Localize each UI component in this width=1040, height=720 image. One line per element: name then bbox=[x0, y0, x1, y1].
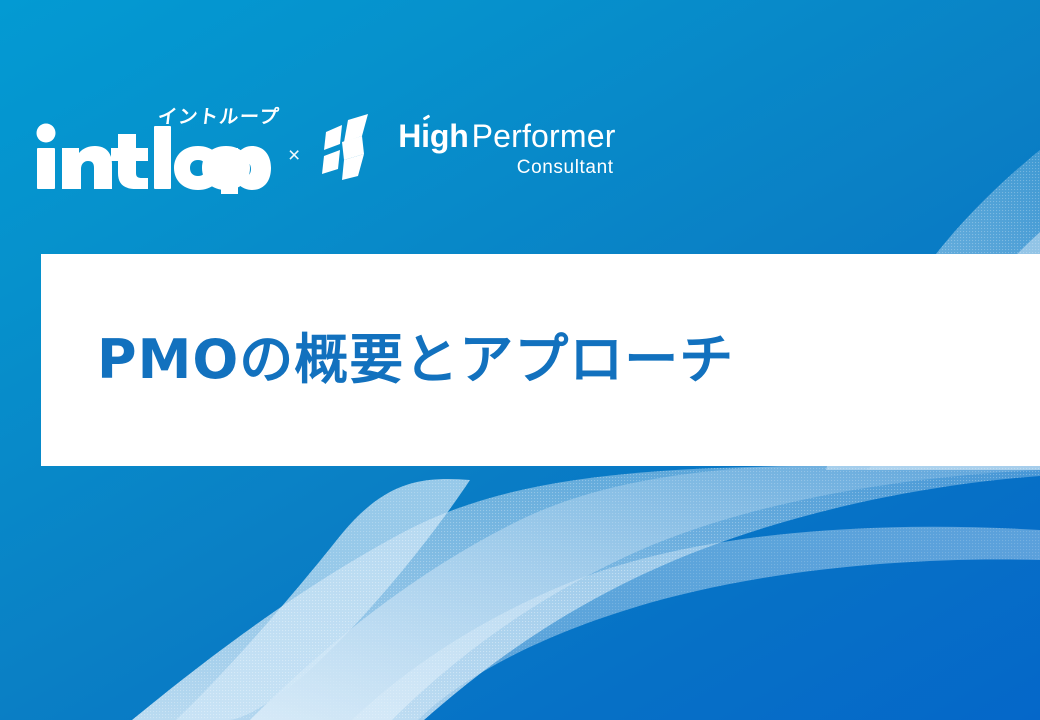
separator-x: × bbox=[288, 145, 300, 166]
wave-bottom-main bbox=[132, 464, 1040, 720]
consultant-word: Consultant bbox=[398, 157, 615, 179]
logo-lockup: イントループ bbox=[32, 96, 616, 196]
title-card: PMOの概要とアプローチ bbox=[41, 254, 1040, 466]
high-performer-text: HighPerformer Consultant bbox=[398, 120, 615, 179]
performer-word: Performer bbox=[472, 118, 616, 154]
intloop-logo: イントループ bbox=[32, 98, 272, 196]
high-word: High bbox=[398, 118, 468, 154]
presentation-slide: イントループ bbox=[0, 0, 1040, 720]
high-performer-h-mark bbox=[322, 114, 384, 180]
slide-title: PMOの概要とアプローチ bbox=[97, 329, 734, 391]
high-accent-mark bbox=[423, 114, 431, 120]
intloop-wordmark bbox=[32, 122, 272, 194]
high-performer-line1: HighPerformer bbox=[398, 120, 615, 152]
high-performer-logo: HighPerformer Consultant bbox=[322, 104, 615, 190]
